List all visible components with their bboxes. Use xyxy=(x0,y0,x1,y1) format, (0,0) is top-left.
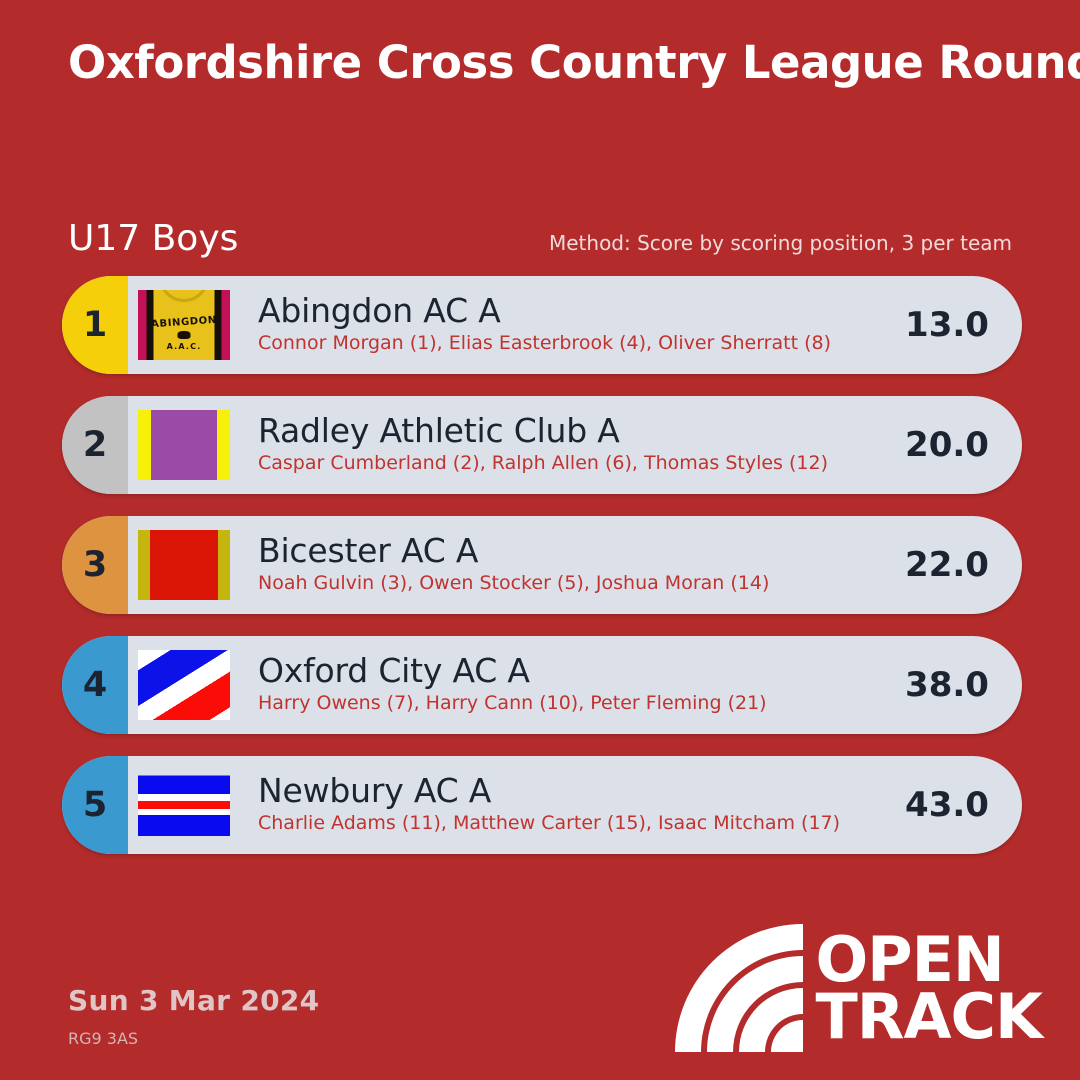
team-score: 13.0 xyxy=(872,276,1022,374)
bicester-vest-icon xyxy=(138,530,230,600)
vest-cell xyxy=(128,516,240,614)
table-row[interactable]: 4 Oxford City AC A Harry Owens (7), Harr… xyxy=(62,636,1022,734)
event-venue-postcode: RG9 3AS xyxy=(68,1029,319,1048)
event-category: U17 Boys xyxy=(68,218,238,259)
team-athletes: Noah Gulvin (3), Owen Stocker (5), Joshu… xyxy=(258,571,872,597)
team-athletes: Connor Morgan (1), Elias Easterbrook (4)… xyxy=(258,331,872,357)
opentrack-arcs-icon xyxy=(675,924,803,1052)
newbury-vest-icon xyxy=(138,770,230,840)
team-cell: Oxford City AC A Harry Owens (7), Harry … xyxy=(240,636,872,734)
radley-vest-icon xyxy=(138,410,230,480)
team-athletes: Caspar Cumberland (2), Ralph Allen (6), … xyxy=(258,451,872,477)
vest-cell: ABINGDON A.A.C. xyxy=(128,276,240,374)
team-name: Oxford City AC A xyxy=(258,653,872,689)
opentrack-logo: OPEN TRACK xyxy=(675,924,1042,1052)
team-name: Radley Athletic Club A xyxy=(258,413,872,449)
vest-emblem-icon xyxy=(178,331,191,339)
footer: Sun 3 Mar 2024 RG9 3AS xyxy=(68,984,319,1048)
team-name: Bicester AC A xyxy=(258,533,872,569)
rank-badge: 2 xyxy=(62,396,128,494)
vest-club-subtext: A.A.C. xyxy=(138,342,230,351)
page-title: Oxfordshire Cross Country League Round 5 xyxy=(68,36,1048,89)
vest-cell xyxy=(128,396,240,494)
team-name: Abingdon AC A xyxy=(258,293,872,329)
logo-word-track: TRACK xyxy=(815,988,1042,1045)
scoring-method: Method: Score by scoring position, 3 per… xyxy=(549,231,1012,255)
team-cell: Radley Athletic Club A Caspar Cumberland… xyxy=(240,396,872,494)
event-date: Sun 3 Mar 2024 xyxy=(68,984,319,1017)
rank-badge: 4 xyxy=(62,636,128,734)
rank-badge: 3 xyxy=(62,516,128,614)
vest-cell xyxy=(128,756,240,854)
vest-neckline xyxy=(159,290,209,302)
team-cell: Bicester AC A Noah Gulvin (3), Owen Stoc… xyxy=(240,516,872,614)
table-row[interactable]: 3 Bicester AC A Noah Gulvin (3), Owen St… xyxy=(62,516,1022,614)
table-row[interactable]: 5 Newbury AC A Charlie Adams (11), Matth… xyxy=(62,756,1022,854)
team-athletes: Charlie Adams (11), Matthew Carter (15),… xyxy=(258,811,872,837)
team-score: 38.0 xyxy=(872,636,1022,734)
team-athletes: Harry Owens (7), Harry Cann (10), Peter … xyxy=(258,691,872,717)
rank-badge: 1 xyxy=(62,276,128,374)
team-cell: Newbury AC A Charlie Adams (11), Matthew… xyxy=(240,756,872,854)
vest-cell xyxy=(128,636,240,734)
team-score: 22.0 xyxy=(872,516,1022,614)
abingdon-vest-icon: ABINGDON A.A.C. xyxy=(138,290,230,360)
team-name: Newbury AC A xyxy=(258,773,872,809)
team-cell: Abingdon AC A Connor Morgan (1), Elias E… xyxy=(240,276,872,374)
rank-badge: 5 xyxy=(62,756,128,854)
oxford-city-vest-icon xyxy=(138,650,230,720)
table-row[interactable]: 1 ABINGDON A.A.C. Abingdon AC A Connor M… xyxy=(62,276,1022,374)
table-row[interactable]: 2 Radley Athletic Club A Caspar Cumberla… xyxy=(62,396,1022,494)
vest-club-text: ABINGDON xyxy=(138,314,230,331)
results-list: 1 ABINGDON A.A.C. Abingdon AC A Connor M… xyxy=(62,276,1022,876)
subheader: U17 Boys Method: Score by scoring positi… xyxy=(68,218,1012,259)
logo-wordmark: OPEN TRACK xyxy=(815,931,1042,1045)
team-score: 20.0 xyxy=(872,396,1022,494)
team-score: 43.0 xyxy=(872,756,1022,854)
